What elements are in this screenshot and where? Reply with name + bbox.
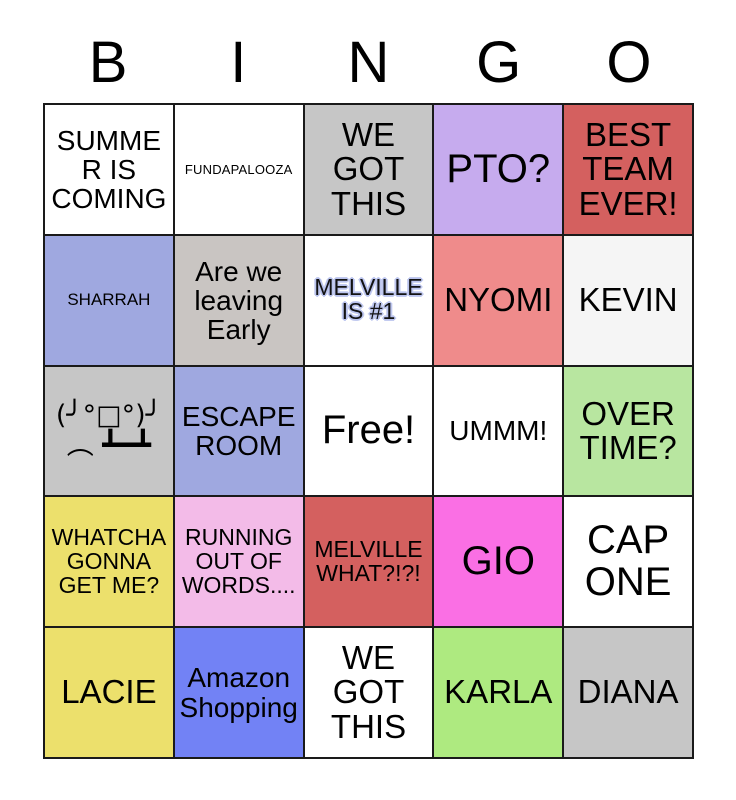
bingo-cell-label: KEVIN	[567, 283, 689, 317]
bingo-cell-r1c2[interactable]: FUNDAPALOOZA	[175, 105, 305, 236]
bingo-cell-label: FUNDAPALOOZA	[178, 163, 300, 177]
bingo-cell-r2c5[interactable]: KEVIN	[564, 236, 694, 367]
bingo-cell-r1c3[interactable]: WE GOT THIS	[305, 105, 435, 236]
bingo-cell-label: Free!	[308, 410, 430, 452]
bingo-cell-r5c4[interactable]: KARLA	[434, 628, 564, 759]
bingo-cell-r5c1[interactable]: LACIE	[45, 628, 175, 759]
bingo-cell-r3c5[interactable]: OVER TIME?	[564, 367, 694, 498]
bingo-cell-label: DIANA	[567, 675, 689, 709]
bingo-cell-r2c1[interactable]: SHARRAH	[45, 236, 175, 367]
bingo-cell-r4c5[interactable]: CAP ONE	[564, 497, 694, 628]
bingo-cell-label: SUMMER IS COMING	[48, 126, 170, 213]
bingo-cell-r1c1[interactable]: SUMMER IS COMING	[45, 105, 175, 236]
header-letter-i: I	[173, 22, 303, 103]
bingo-card: B I N G O SUMMER IS COMINGFUNDAPALOOZAWE…	[43, 22, 694, 759]
bingo-cell-label: OVER TIME?	[567, 397, 689, 466]
bingo-header-row: B I N G O	[43, 22, 694, 103]
bingo-cell-label: GIO	[437, 541, 559, 583]
bingo-cell-label: Are we leaving Early	[178, 257, 300, 344]
bingo-cell-label: MELVILLE IS #1	[308, 276, 430, 324]
bingo-cell-label: PTO?	[437, 149, 559, 191]
bingo-cell-r4c3[interactable]: MELVILLE WHAT?!?!	[305, 497, 435, 628]
bingo-cell-label: ESCAPE ROOM	[178, 402, 300, 460]
bingo-cell-label: WHATCHA GONNA GET ME?	[48, 526, 170, 598]
bingo-cell-r1c5[interactable]: BEST TEAM EVER!	[564, 105, 694, 236]
bingo-cell-r3c3[interactable]: Free!	[305, 367, 435, 498]
bingo-cell-label: NYOMI	[437, 283, 559, 317]
bingo-cell-label: CAP ONE	[567, 520, 689, 603]
bingo-cell-label: SHARRAH	[48, 291, 170, 309]
bingo-cell-label: BEST TEAM EVER!	[567, 118, 689, 221]
bingo-cell-r2c2[interactable]: Are we leaving Early	[175, 236, 305, 367]
bingo-cell-r2c3[interactable]: MELVILLE IS #1	[305, 236, 435, 367]
bingo-cell-label: RUNNING OUT OF WORDS....	[178, 526, 300, 598]
header-letter-o: O	[564, 22, 694, 103]
bingo-cell-r5c5[interactable]: DIANA	[564, 628, 694, 759]
bingo-cell-r3c4[interactable]: UMMM!	[434, 367, 564, 498]
bingo-cell-label: WE GOT THIS	[308, 118, 430, 221]
bingo-cell-r4c4[interactable]: GIO	[434, 497, 564, 628]
bingo-cell-r5c2[interactable]: Amazon Shopping	[175, 628, 305, 759]
bingo-cell-label: WE GOT THIS	[308, 641, 430, 744]
bingo-cell-r1c4[interactable]: PTO?	[434, 105, 564, 236]
bingo-cell-label: (╯°□°)╯︵ ┻━┻	[48, 401, 170, 461]
bingo-cell-label: MELVILLE WHAT?!?!	[308, 538, 430, 586]
header-letter-b: B	[43, 22, 173, 103]
bingo-cell-r5c3[interactable]: WE GOT THIS	[305, 628, 435, 759]
bingo-cell-label: LACIE	[48, 675, 170, 709]
header-letter-g: G	[434, 22, 564, 103]
bingo-cell-label: Amazon Shopping	[178, 663, 300, 721]
bingo-cell-r3c2[interactable]: ESCAPE ROOM	[175, 367, 305, 498]
bingo-grid: SUMMER IS COMINGFUNDAPALOOZAWE GOT THISP…	[43, 103, 694, 759]
bingo-cell-r3c1[interactable]: (╯°□°)╯︵ ┻━┻	[45, 367, 175, 498]
bingo-cell-label: KARLA	[437, 675, 559, 709]
bingo-cell-r4c1[interactable]: WHATCHA GONNA GET ME?	[45, 497, 175, 628]
bingo-cell-r4c2[interactable]: RUNNING OUT OF WORDS....	[175, 497, 305, 628]
bingo-cell-r2c4[interactable]: NYOMI	[434, 236, 564, 367]
bingo-cell-label: UMMM!	[437, 416, 559, 445]
header-letter-n: N	[303, 22, 433, 103]
